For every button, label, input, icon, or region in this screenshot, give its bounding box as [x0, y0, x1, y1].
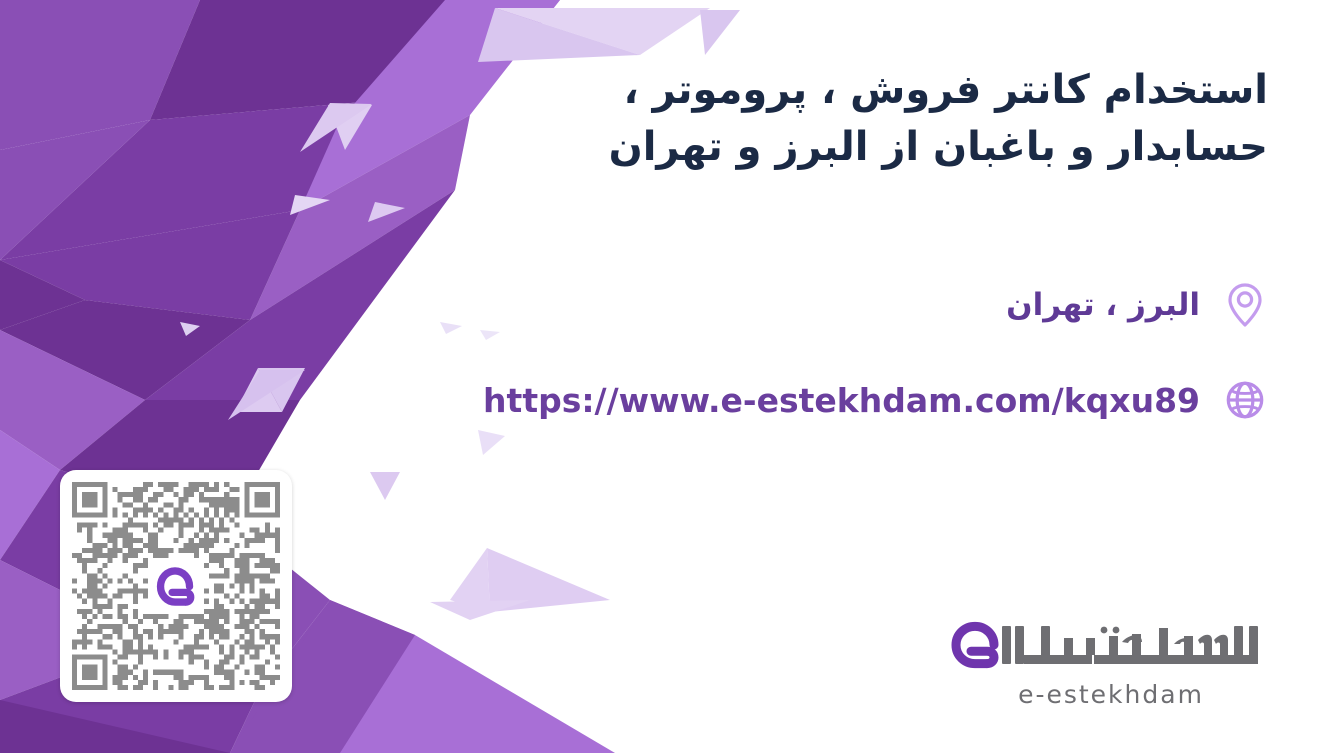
location-text: البرز ، تهران: [1006, 287, 1200, 323]
globe-icon: [1222, 377, 1268, 423]
brand-logo-en: e-estekhdam: [946, 680, 1276, 709]
job-ad-card: استخدام کانتر فروش ، پروموتر ، حسابدار و…: [0, 0, 1340, 753]
qr-center-e-logo: [147, 557, 205, 615]
brand-logo-fa: [946, 614, 1276, 676]
map-pin-icon: [1222, 282, 1268, 328]
brand-logo: e-estekhdam: [946, 614, 1276, 714]
location-row: البرز ، تهران: [1006, 282, 1268, 328]
qr-code[interactable]: [60, 470, 292, 702]
url-row[interactable]: https://www.e-estekhdam.com/kqxu89: [483, 377, 1268, 423]
page-title: استخدام کانتر فروش ، پروموتر ، حسابدار و…: [468, 62, 1268, 176]
url-text[interactable]: https://www.e-estekhdam.com/kqxu89: [483, 381, 1200, 420]
